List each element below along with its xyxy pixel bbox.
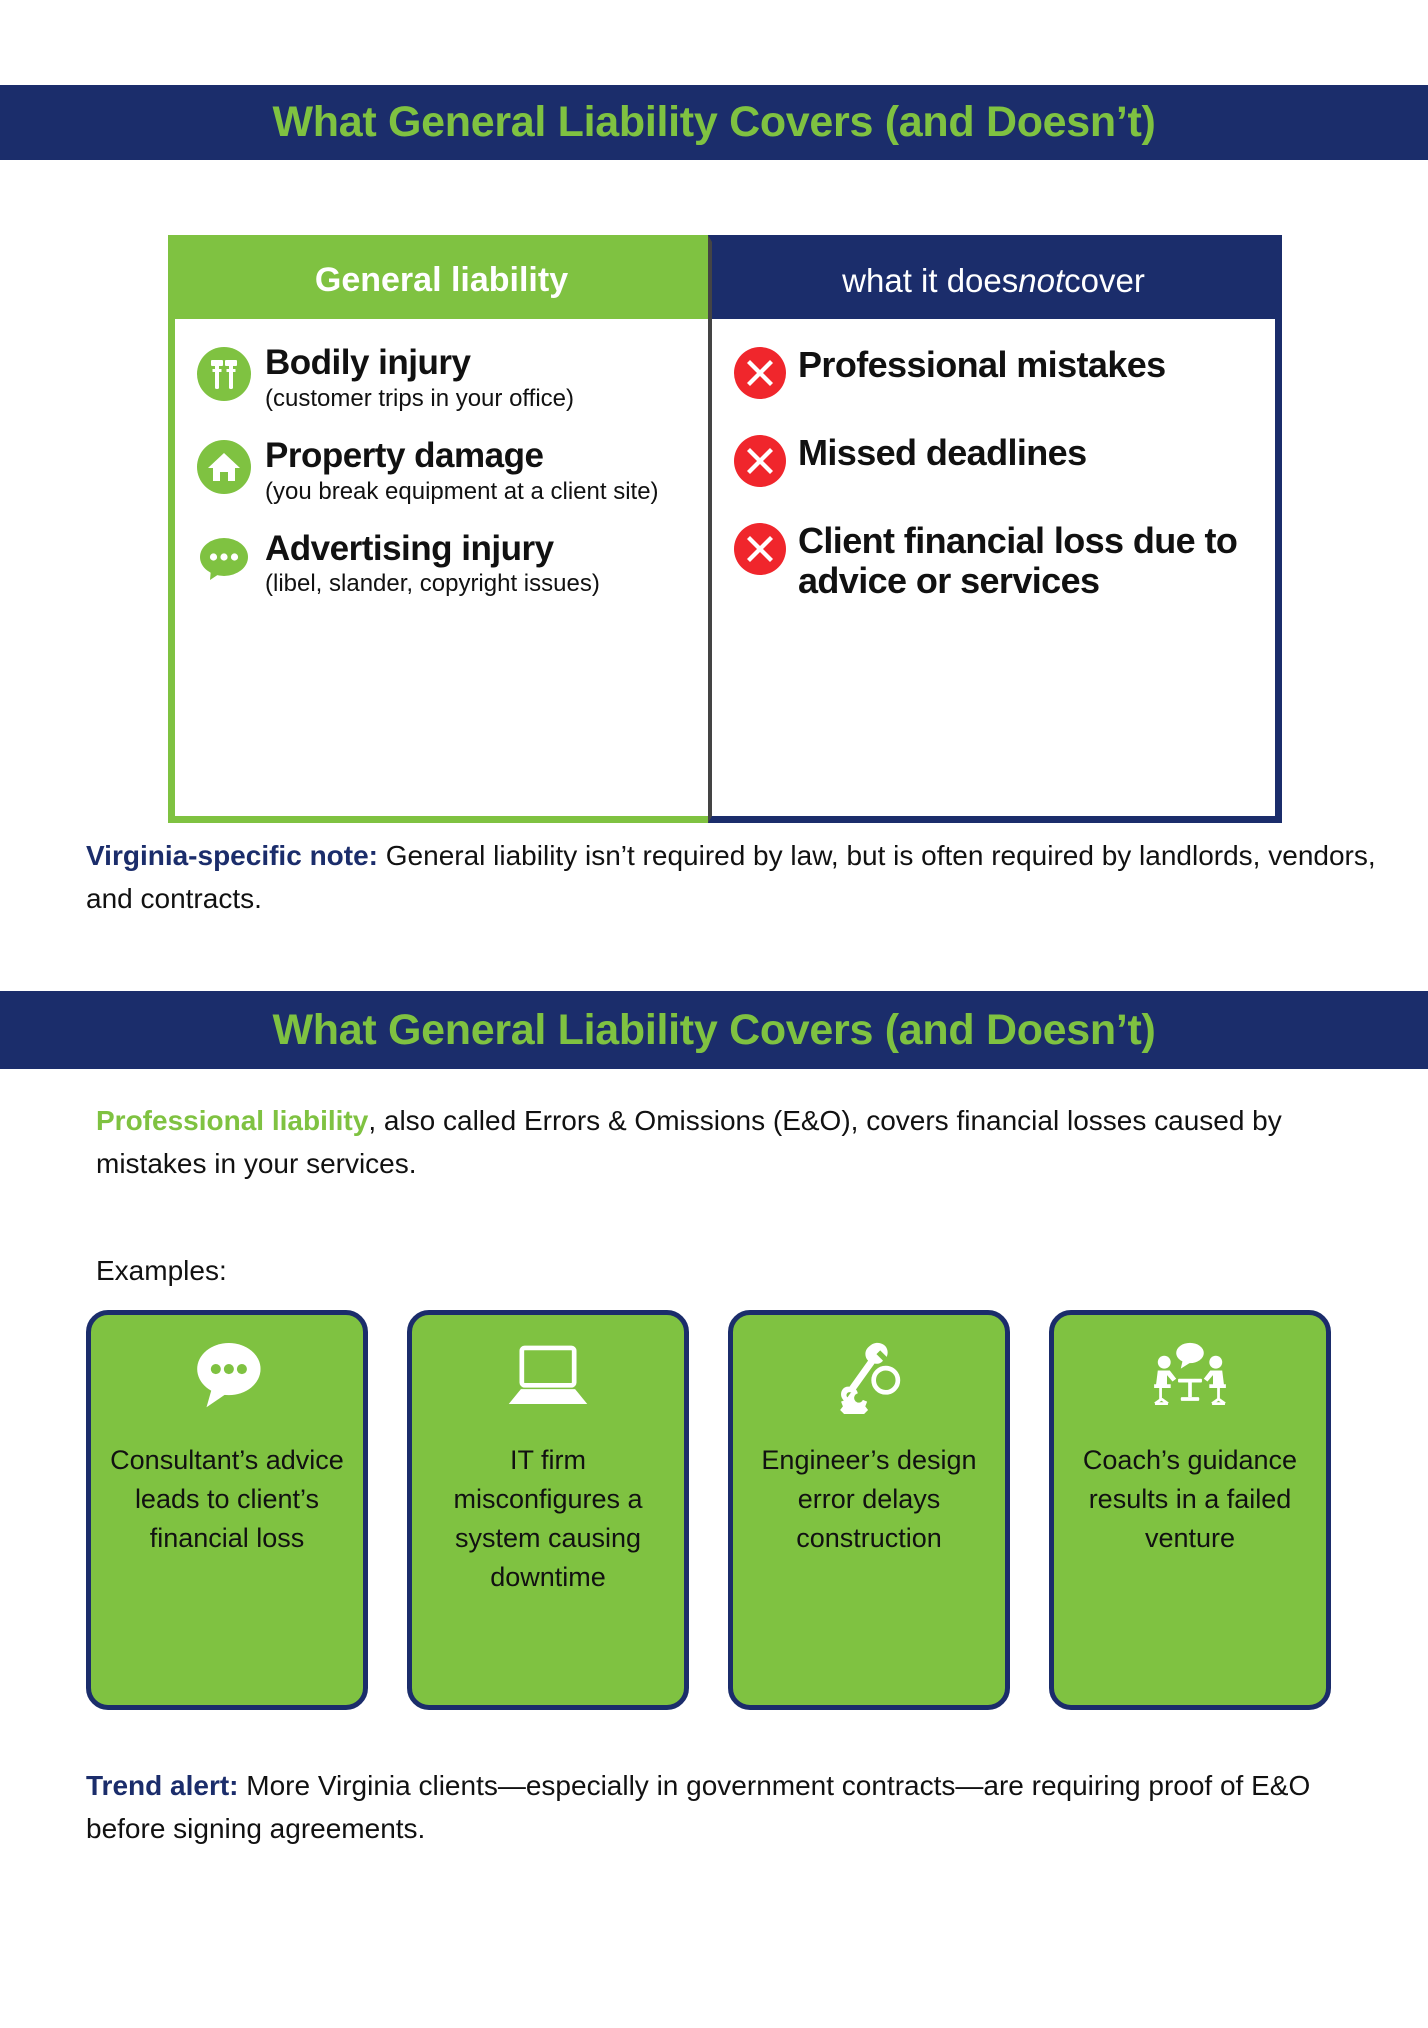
example-card-text: Coach’s guidance results in a failed ven… [1054, 1441, 1326, 1558]
top-banner: What General Liability Covers (and Doesn… [0, 85, 1428, 160]
example-card: Coach’s guidance results in a failed ven… [1049, 1310, 1331, 1710]
coverage-comparison-table: General liability [168, 235, 1282, 823]
not-covered-column-header: what it does not cover [712, 242, 1275, 319]
top-banner-title: What General Liability Covers (and Doesn… [272, 101, 1155, 144]
speech-bubble-icon [186, 1337, 268, 1415]
not-covered-item-title: Missed deadlines [798, 433, 1257, 473]
covered-item: Property damage (you break equipment at … [197, 438, 690, 507]
example-card: Engineer’s design error delays construct… [728, 1310, 1010, 1710]
example-card-text: Consultant’s advice leads to client’s fi… [91, 1441, 363, 1558]
gear-wrench-icon [828, 1337, 910, 1415]
example-card-text: Engineer’s design error delays construct… [733, 1441, 1005, 1558]
examples-label: Examples: [96, 1255, 227, 1287]
speech-bubble-icon [197, 533, 251, 587]
trend-alert-note: Trend alert: More Virginia clients—espec… [86, 1765, 1366, 1850]
virginia-note-label: Virginia-specific note: [86, 840, 378, 871]
header-text-after: cover [1064, 262, 1145, 300]
x-circle-icon [734, 523, 786, 575]
second-banner-title: What General Liability Covers (and Doesn… [272, 1009, 1155, 1052]
not-covered-item: Professional mistakes [734, 345, 1257, 399]
trend-alert-text: More Virginia clients—especially in gove… [86, 1770, 1310, 1844]
covered-items-list: Bodily injury (customer trips in your of… [175, 319, 708, 816]
example-card: Consultant’s advice leads to client’s fi… [86, 1310, 368, 1710]
covered-item: Advertising injury (libel, slander, copy… [197, 531, 690, 600]
covered-item-subtitle: (you break equipment at a client site) [265, 477, 690, 507]
not-covered-column: what it does not cover Professional mist… [708, 235, 1282, 823]
not-covered-item-title: Client financial loss due to advice or s… [798, 521, 1257, 602]
crutches-icon [197, 347, 251, 401]
header-text-italic: not [1018, 262, 1064, 300]
covered-item-title: Property damage [265, 436, 543, 475]
second-banner: What General Liability Covers (and Doesn… [0, 991, 1428, 1069]
covered-column: General liability [168, 235, 708, 823]
covered-item-subtitle: (customer trips in your office) [265, 384, 690, 414]
x-circle-icon [734, 435, 786, 487]
trend-alert-label: Trend alert: [86, 1770, 238, 1801]
laptop-icon [505, 1337, 591, 1415]
professional-liability-intro: Professional liability, also called Erro… [96, 1100, 1376, 1185]
not-covered-items-list: Professional mistakes Missed deadlines [712, 319, 1275, 816]
covered-item: Bodily injury (customer trips in your of… [197, 345, 690, 414]
not-covered-item: Client financial loss due to advice or s… [734, 521, 1257, 602]
covered-item-title: Bodily injury [265, 343, 470, 382]
covered-item-title: Advertising injury [265, 529, 554, 568]
example-card: IT firm misconfigures a system causing d… [407, 1310, 689, 1710]
home-icon [197, 440, 251, 494]
x-circle-icon [734, 347, 786, 399]
covered-column-header: General liability [175, 242, 708, 319]
professional-liability-lead: Professional liability [96, 1105, 368, 1136]
meeting-people-icon [1144, 1337, 1236, 1415]
covered-item-subtitle: (libel, slander, copyright issues) [265, 569, 690, 599]
virginia-specific-note: Virginia-specific note: General liabilit… [86, 835, 1376, 920]
not-covered-item: Missed deadlines [734, 433, 1257, 487]
header-text-before: what it does [842, 262, 1018, 300]
example-card-text: IT firm misconfigures a system causing d… [412, 1441, 684, 1598]
not-covered-item-title: Professional mistakes [798, 345, 1257, 385]
examples-card-row: Consultant’s advice leads to client’s fi… [86, 1310, 1346, 1710]
